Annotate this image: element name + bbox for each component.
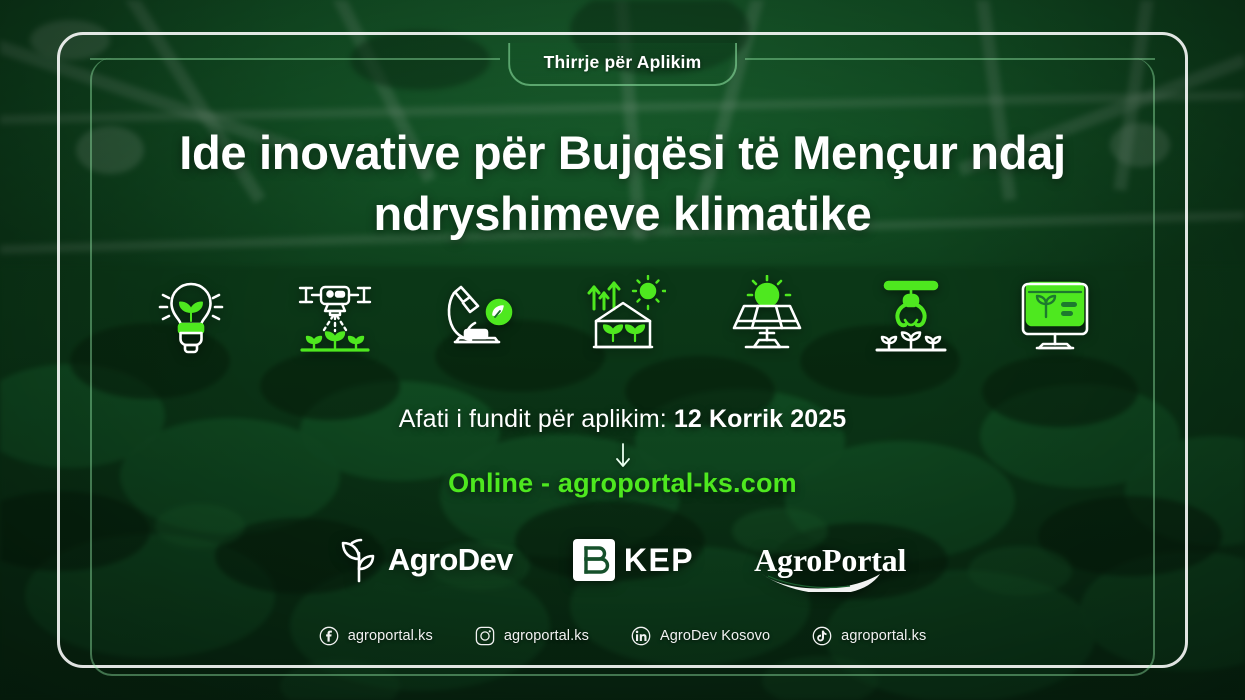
solar-panel-sun-icon	[721, 272, 813, 358]
poster-frame-inner-top-left	[90, 58, 500, 60]
agrodev-logo[interactable]: AgroDev	[339, 537, 513, 583]
headline-line-2: ndryshimeve klimatike	[90, 183, 1155, 244]
greenhouse-sun-icon	[577, 272, 669, 358]
kep-mark-icon	[573, 539, 615, 581]
theme-icon-row	[0, 272, 1245, 358]
promotional-poster: Thirrje për Aplikim Ide inovative për Bu…	[0, 0, 1245, 700]
partner-logo-row: AgroDev KEP AgroPortal	[0, 537, 1245, 583]
social-link-facebook[interactable]: agroportal.ks	[319, 626, 433, 646]
social-link-linkedin[interactable]: AgroDev Kosovo	[631, 626, 770, 646]
call-for-application-badge: Thirrje për Aplikim	[508, 43, 738, 86]
robotic-arm-plant-icon	[865, 272, 957, 358]
social-handle-tiktok: agroportal.ks	[841, 628, 926, 644]
deadline-text: Afati i fundit për aplikim: 12 Korrik 20…	[0, 405, 1245, 434]
agroportal-leaf-icon	[760, 570, 890, 592]
deadline-date: 12 Korrik 2025	[674, 405, 846, 433]
page-title: Ide inovative për Bujqësi të Mençur ndaj…	[0, 122, 1245, 244]
application-url[interactable]: Online - agroportal-ks.com	[0, 468, 1245, 499]
kep-logo-text: KEP	[624, 542, 694, 579]
drone-spraying-icon	[289, 272, 381, 358]
social-handle-linkedin: AgroDev Kosovo	[660, 628, 770, 644]
instagram-icon	[475, 626, 495, 646]
deadline-label: Afati i fundit për aplikim:	[399, 405, 667, 433]
tiktok-icon	[812, 626, 832, 646]
down-arrow-icon	[0, 443, 1245, 469]
agrodev-logo-text: AgroDev	[388, 542, 513, 578]
social-links-row: agroportal.ks agroportal.ks AgroDev Koso…	[0, 626, 1245, 646]
kep-logo[interactable]: KEP	[573, 539, 694, 581]
social-link-tiktok[interactable]: agroportal.ks	[812, 626, 926, 646]
social-handle-instagram: agroportal.ks	[504, 628, 589, 644]
linkedin-icon	[631, 626, 651, 646]
monitor-plant-icon	[1009, 272, 1101, 358]
microscope-leaf-icon	[433, 272, 525, 358]
agroportal-logo[interactable]: AgroPortal	[754, 542, 906, 579]
poster-frame-inner-top-right	[745, 58, 1155, 60]
social-handle-facebook: agroportal.ks	[348, 628, 433, 644]
headline-line-1: Ide inovative për Bujqësi të Mençur ndaj	[179, 126, 1065, 179]
agrodev-sprout-icon	[339, 537, 379, 583]
lightbulb-plant-icon	[145, 272, 237, 358]
facebook-icon	[319, 626, 339, 646]
social-link-instagram[interactable]: agroportal.ks	[475, 626, 589, 646]
